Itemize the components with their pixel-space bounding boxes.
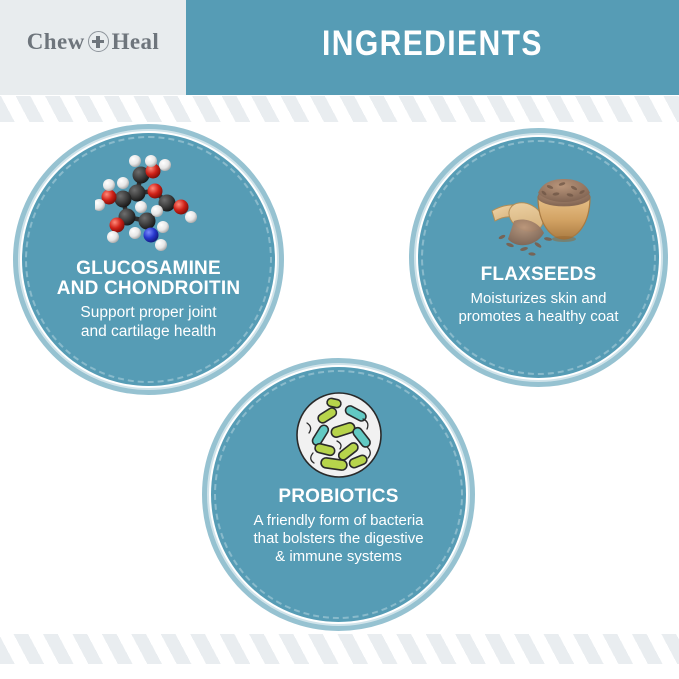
ingredient-circle-glucosamine: GLUCOSAMINE AND CHONDROITIN Support prop… [22, 133, 275, 386]
desc-line-2: that bolsters the digestive [253, 530, 423, 548]
molecule-3d-model-icon [95, 149, 203, 253]
desc-line-2: and cartilage health [80, 323, 216, 341]
stripe-band-top [0, 96, 679, 122]
ingredient-title-glucosamine: GLUCOSAMINE AND CHONDROITIN [51, 259, 247, 299]
desc-line-1: Support proper joint [80, 304, 216, 322]
title-line-1: PROBIOTICS [278, 487, 398, 507]
ingredient-title-flaxseeds: FLAXSEEDS [475, 265, 603, 285]
brand-name-left: Chew [27, 29, 85, 55]
desc-line-1: Moisturizes skin and [458, 290, 618, 308]
ingredient-desc-glucosamine: Support proper joint and cartilage healt… [70, 304, 226, 341]
title-line-2: AND CHONDROITIN [57, 279, 241, 299]
ingredient-desc-probiotics: A friendly form of bacteria that bolster… [243, 512, 433, 565]
ingredient-title-probiotics: PROBIOTICS [272, 487, 404, 507]
circled-plus-icon [88, 31, 109, 52]
brand-logo: Chew Heal [27, 29, 159, 55]
desc-line-2: promotes a healthy coat [458, 308, 618, 326]
desc-line-1: A friendly form of bacteria [253, 512, 423, 530]
brand-logo-panel: Chew Heal [0, 0, 186, 95]
desc-line-3: & immune systems [253, 548, 423, 566]
flaxseed-bowl-scoop-icon [480, 159, 598, 259]
bacteria-cluster-icon [293, 389, 385, 481]
header-bar: Chew Heal INGREDIENTS [0, 0, 679, 95]
title-banner: INGREDIENTS [186, 0, 679, 95]
title-line-1: GLUCOSAMINE [57, 259, 241, 279]
stripe-band-bottom [0, 634, 679, 664]
title-line-1: FLAXSEEDS [481, 265, 597, 285]
page-title: INGREDIENTS [322, 24, 543, 64]
brand-name-right: Heal [112, 29, 160, 55]
ingredient-desc-flaxseeds: Moisturizes skin and promotes a healthy … [448, 290, 628, 325]
ingredient-circle-probiotics: PROBIOTICS A friendly form of bacteria t… [211, 367, 466, 622]
ingredients-infographic: Chew Heal INGREDIENTS [0, 0, 679, 679]
ingredient-circle-flaxseeds: FLAXSEEDS Moisturizes skin and promotes … [418, 137, 659, 378]
